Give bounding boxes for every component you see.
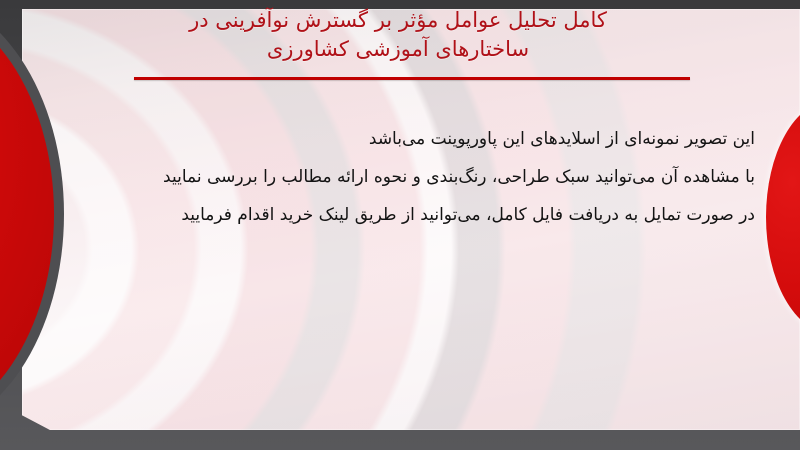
slide-body: این تصویر نمونه‌ای از اسلایدهای این پاور… <box>55 120 755 234</box>
slide-title-line-2: ساختارهای آموزشی کشاورزی <box>106 35 690 64</box>
title-underline <box>134 77 690 80</box>
slide-title: کامل تحلیل عوامل مؤثر بر گسترش نوآفرینی … <box>106 6 690 64</box>
slide-title-line-1: کامل تحلیل عوامل مؤثر بر گسترش نوآفرینی … <box>106 6 690 35</box>
body-line-1: این تصویر نمونه‌ای از اسلایدهای این پاور… <box>55 120 755 158</box>
body-line-3: در صورت تمایل به دریافت فایل کامل، می‌تو… <box>55 196 755 234</box>
body-line-2: با مشاهده آن می‌توانید سبک طراحی، رنگ‌بن… <box>55 158 755 196</box>
presentation-slide: کامل تحلیل عوامل مؤثر بر گسترش نوآفرینی … <box>0 0 800 450</box>
